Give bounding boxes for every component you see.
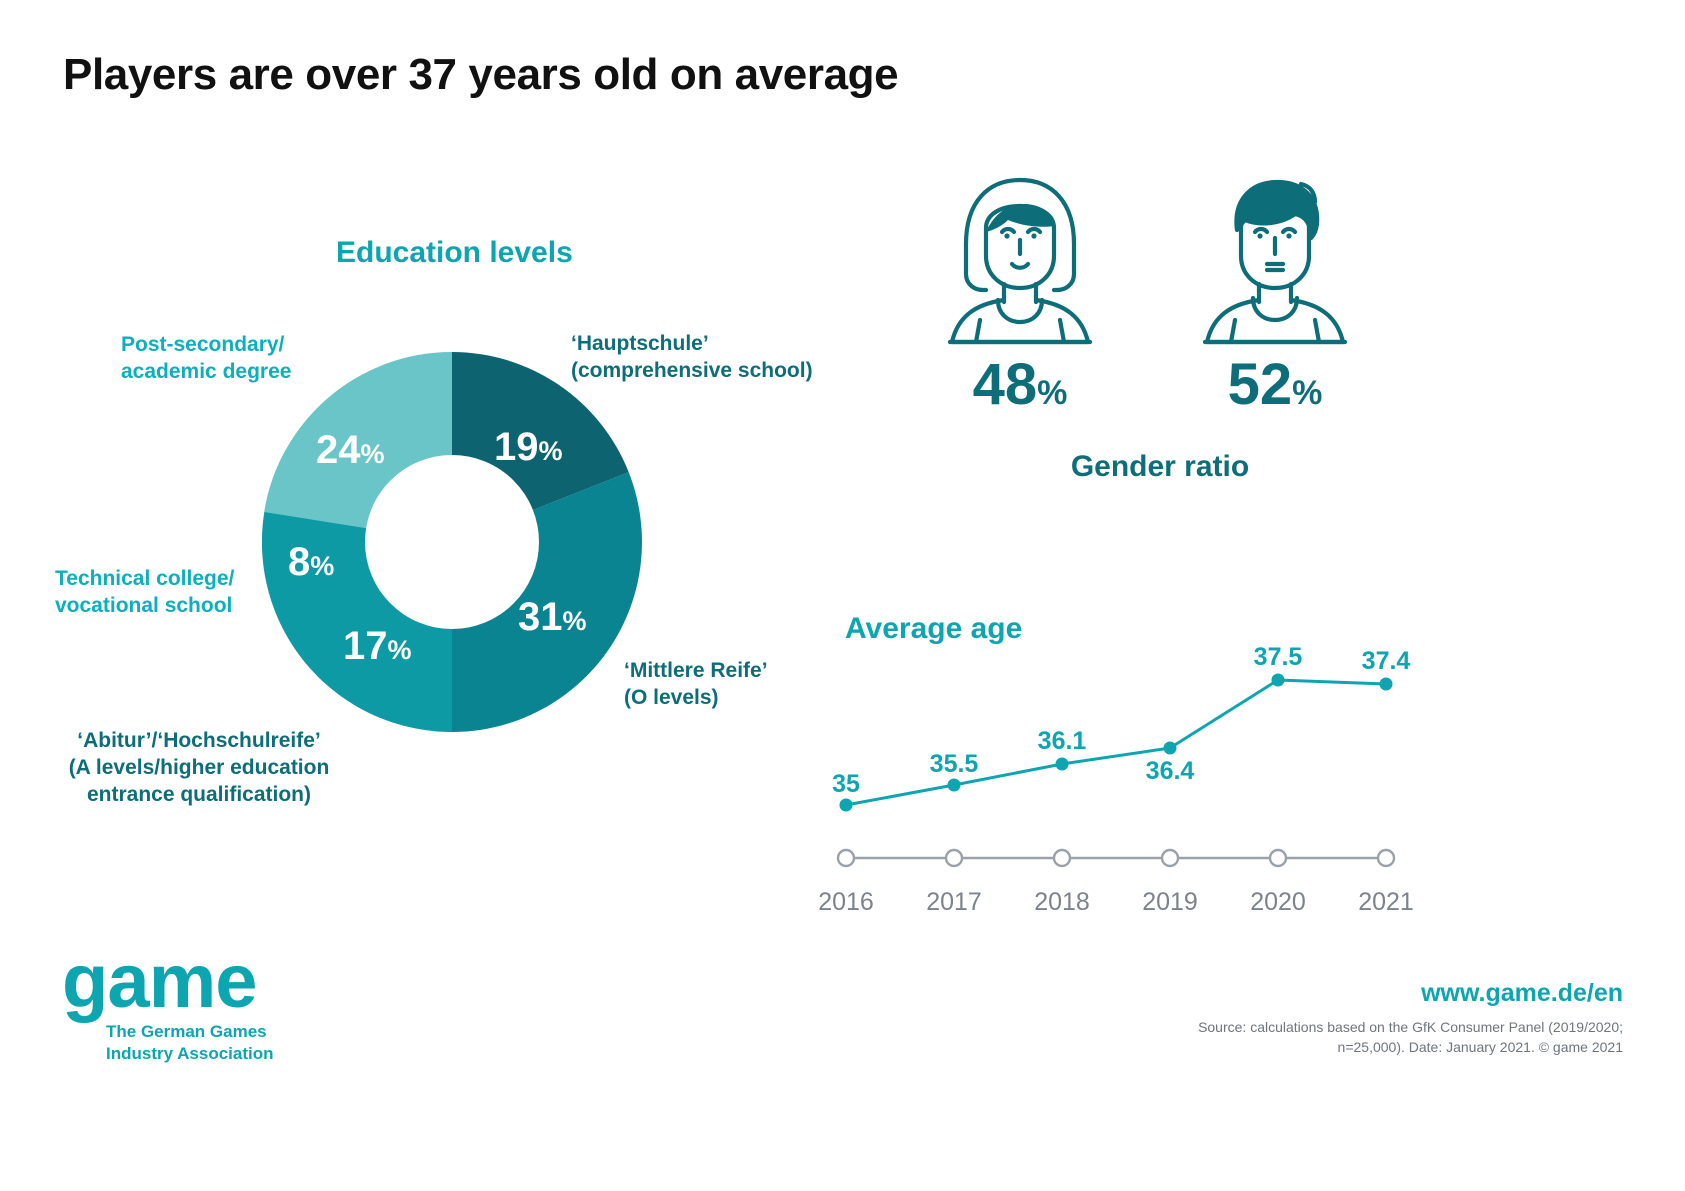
education-donut-chart: 19% 31% 17% 8% 24% — [262, 352, 642, 732]
data-point-2018 — [1056, 758, 1069, 771]
donut-value-technical: 8% — [288, 542, 334, 582]
male-percentage: 52% — [1170, 356, 1380, 414]
average-age-line-chart: 35 35.5 36.1 36.4 37.5 37.4 2016 2017 20… — [800, 630, 1440, 920]
logo-tagline: The German Games Industry Association — [106, 1021, 392, 1065]
data-point-2020 — [1272, 674, 1285, 687]
data-point-2016 — [840, 799, 853, 812]
x-axis-tick-2018 — [1054, 850, 1070, 866]
data-label-2021: 37.4 — [1362, 647, 1411, 676]
donut-value-mittlere: 31% — [518, 597, 587, 637]
donut-label-hauptschule: ‘Hauptschule’ (comprehensive school) — [571, 331, 813, 385]
donut-hole — [365, 455, 539, 629]
male-percentage-unit: % — [1292, 374, 1322, 412]
x-axis-tick-2017 — [946, 850, 962, 866]
page-title: Players are over 37 years old on average — [63, 50, 898, 100]
gender-male-item: 52% — [1170, 170, 1380, 414]
donut-label-technical: Technical college/ vocational school — [55, 566, 234, 620]
website-url[interactable]: www.game.de/en — [1421, 979, 1623, 1008]
data-label-2020: 37.5 — [1254, 643, 1303, 672]
data-label-2017: 35.5 — [930, 750, 979, 779]
x-axis-label-2017: 2017 — [926, 888, 982, 917]
data-point-2019 — [1164, 742, 1177, 755]
female-percentage-unit: % — [1037, 374, 1067, 412]
donut-value-abitur: 17% — [343, 626, 412, 666]
x-axis-label-2019: 2019 — [1142, 888, 1198, 917]
x-axis-tick-2020 — [1270, 850, 1286, 866]
x-axis-label-2021: 2021 — [1358, 888, 1414, 917]
infographic-canvas: Players are over 37 years old on average… — [0, 0, 1685, 1191]
female-avatar-icon — [936, 170, 1104, 350]
data-label-2016: 35 — [832, 770, 860, 799]
gender-ratio-block: 48% — [900, 170, 1420, 490]
average-age-svg — [800, 630, 1440, 920]
data-label-2018: 36.1 — [1038, 727, 1087, 756]
gender-ratio-caption: Gender ratio — [900, 450, 1420, 484]
x-axis-label-2020: 2020 — [1250, 888, 1306, 917]
donut-value-post-secondary: 24% — [316, 430, 385, 470]
donut-label-mittlere-reife: ‘Mittlere Reife’ (O levels) — [624, 658, 768, 712]
donut-value-hauptschule: 19% — [494, 427, 563, 467]
data-point-2021 — [1380, 678, 1393, 691]
game-logo: game The German Games Industry Associati… — [62, 947, 392, 1065]
donut-label-abitur: ‘Abitur’/‘Hochschulreife’ (A levels/high… — [44, 728, 354, 809]
x-axis-tick-2019 — [1162, 850, 1178, 866]
education-levels-heading: Education levels — [336, 236, 573, 270]
average-age-line — [846, 680, 1386, 805]
data-label-2019: 36.4 — [1146, 757, 1195, 786]
donut-label-post-secondary: Post-secondary/ academic degree — [121, 332, 291, 386]
male-percentage-value: 52 — [1228, 352, 1293, 417]
male-avatar-icon — [1191, 170, 1359, 350]
x-axis-tick-2016 — [838, 850, 854, 866]
female-percentage: 48% — [915, 356, 1125, 414]
x-axis-label-2016: 2016 — [818, 888, 874, 917]
x-axis-tick-2021 — [1378, 850, 1394, 866]
logo-wordmark: game — [62, 947, 392, 1017]
gender-female-item: 48% — [915, 170, 1125, 414]
x-axis-label-2018: 2018 — [1034, 888, 1090, 917]
source-note: Source: calculations based on the GfK Co… — [1123, 1017, 1623, 1058]
female-percentage-value: 48 — [973, 352, 1038, 417]
data-point-2017 — [948, 779, 961, 792]
